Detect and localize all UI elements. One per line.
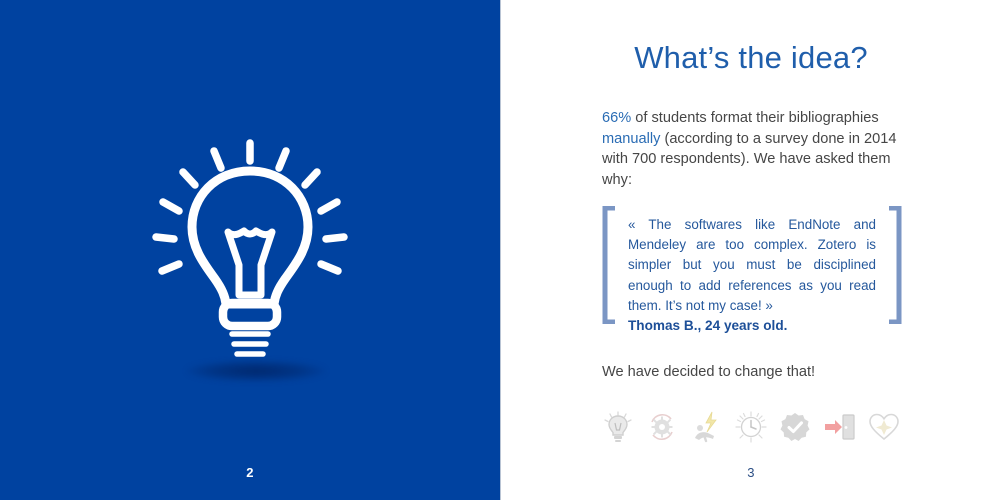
intro-paragraph: 66% of students format their bibliograph… [602, 108, 902, 190]
slide-deck: 2 What’s the idea? 66% of students forma… [0, 0, 1000, 500]
quote-bracket-right-icon [888, 206, 902, 324]
closing-statement: We have decided to change that! [602, 362, 902, 382]
heart-spark-icon [867, 408, 901, 446]
gear-refresh-icon [645, 408, 679, 446]
quote-block: « The softwares like EndNote and Mendele… [602, 206, 902, 342]
intro-text-after-stat: of students format their bibliographies [631, 110, 878, 126]
quote-text: « The softwares like EndNote and Mendele… [628, 215, 876, 316]
page-number-right: 3 [501, 465, 1000, 480]
slide-left[interactable]: 2 [0, 0, 500, 500]
stat-percentage: 66% [602, 110, 631, 126]
intro-emphasis: manually [602, 131, 660, 147]
check-badge-icon [778, 408, 812, 446]
icon-strip [601, 408, 901, 446]
quote-author: Thomas B., 24 years old. [628, 316, 876, 336]
clock-rays-icon [734, 408, 768, 446]
lightbulb-rays-icon [601, 408, 635, 446]
person-lightning-icon [690, 408, 724, 446]
page-title: What’s the idea? [501, 40, 1000, 76]
page-number-left: 2 [0, 465, 500, 480]
lightbulb-icon [0, 130, 500, 370]
exit-door-arrow-icon [823, 408, 857, 446]
quote-bracket-left-icon [602, 206, 616, 324]
slide-right[interactable]: What’s the idea? 66% of students format … [500, 0, 1000, 500]
lightbulb-shadow [186, 360, 326, 382]
body-column: 66% of students format their bibliograph… [602, 108, 902, 382]
lightbulb-graphic [135, 135, 365, 365]
